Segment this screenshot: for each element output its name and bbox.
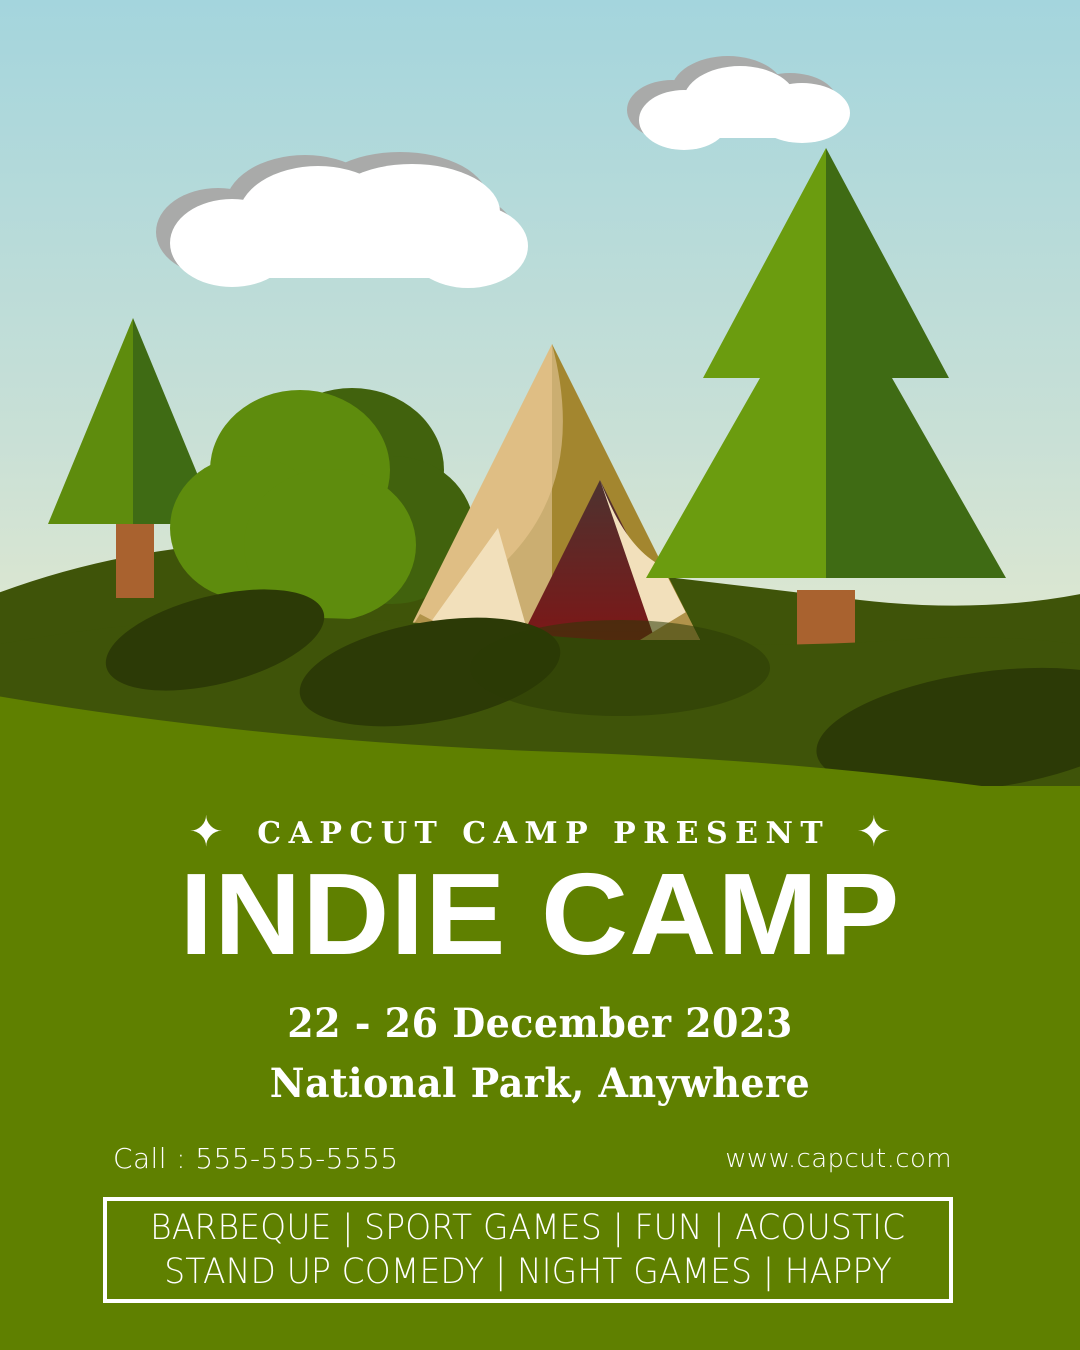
website-url[interactable]: www.capcut.com <box>725 1144 952 1174</box>
page-title: INDIE CAMP <box>0 862 1080 966</box>
shadow-tent <box>470 620 770 716</box>
tagline-text: CAPCUT CAMP PRESENT <box>250 816 831 851</box>
activities-line-2: STAND UP COMEDY | NIGHT GAMES | HAPPY <box>164 1250 892 1294</box>
tagline-row: ✦ CAPCUT CAMP PRESENT ✦ <box>0 812 1080 854</box>
event-date: 22 - 26 December 2023 <box>27 1002 1053 1046</box>
sparkle-right-icon: ✦ <box>856 811 891 853</box>
event-location: National Park, Anywhere <box>27 1062 1053 1106</box>
activities-box: BARBEQUE | SPORT GAMES | FUN | ACOUSTIC … <box>103 1197 953 1303</box>
poster-content: ✦ CAPCUT CAMP PRESENT ✦ INDIE CAMP 22 - … <box>0 790 1080 1350</box>
phone-number[interactable]: Call : 555-555-5555 <box>113 1142 398 1175</box>
sparkle-left-icon: ✦ <box>189 811 224 853</box>
scene-svg <box>0 0 1080 800</box>
poster-canvas: ✦ CAPCUT CAMP PRESENT ✦ INDIE CAMP 22 - … <box>0 0 1080 1350</box>
activities-line-1: BARBEQUE | SPORT GAMES | FUN | ACOUSTIC <box>150 1206 905 1250</box>
contact-row: Call : 555-555-5555 www.capcut.com <box>0 1142 1080 1182</box>
camp-illustration <box>0 0 1080 800</box>
